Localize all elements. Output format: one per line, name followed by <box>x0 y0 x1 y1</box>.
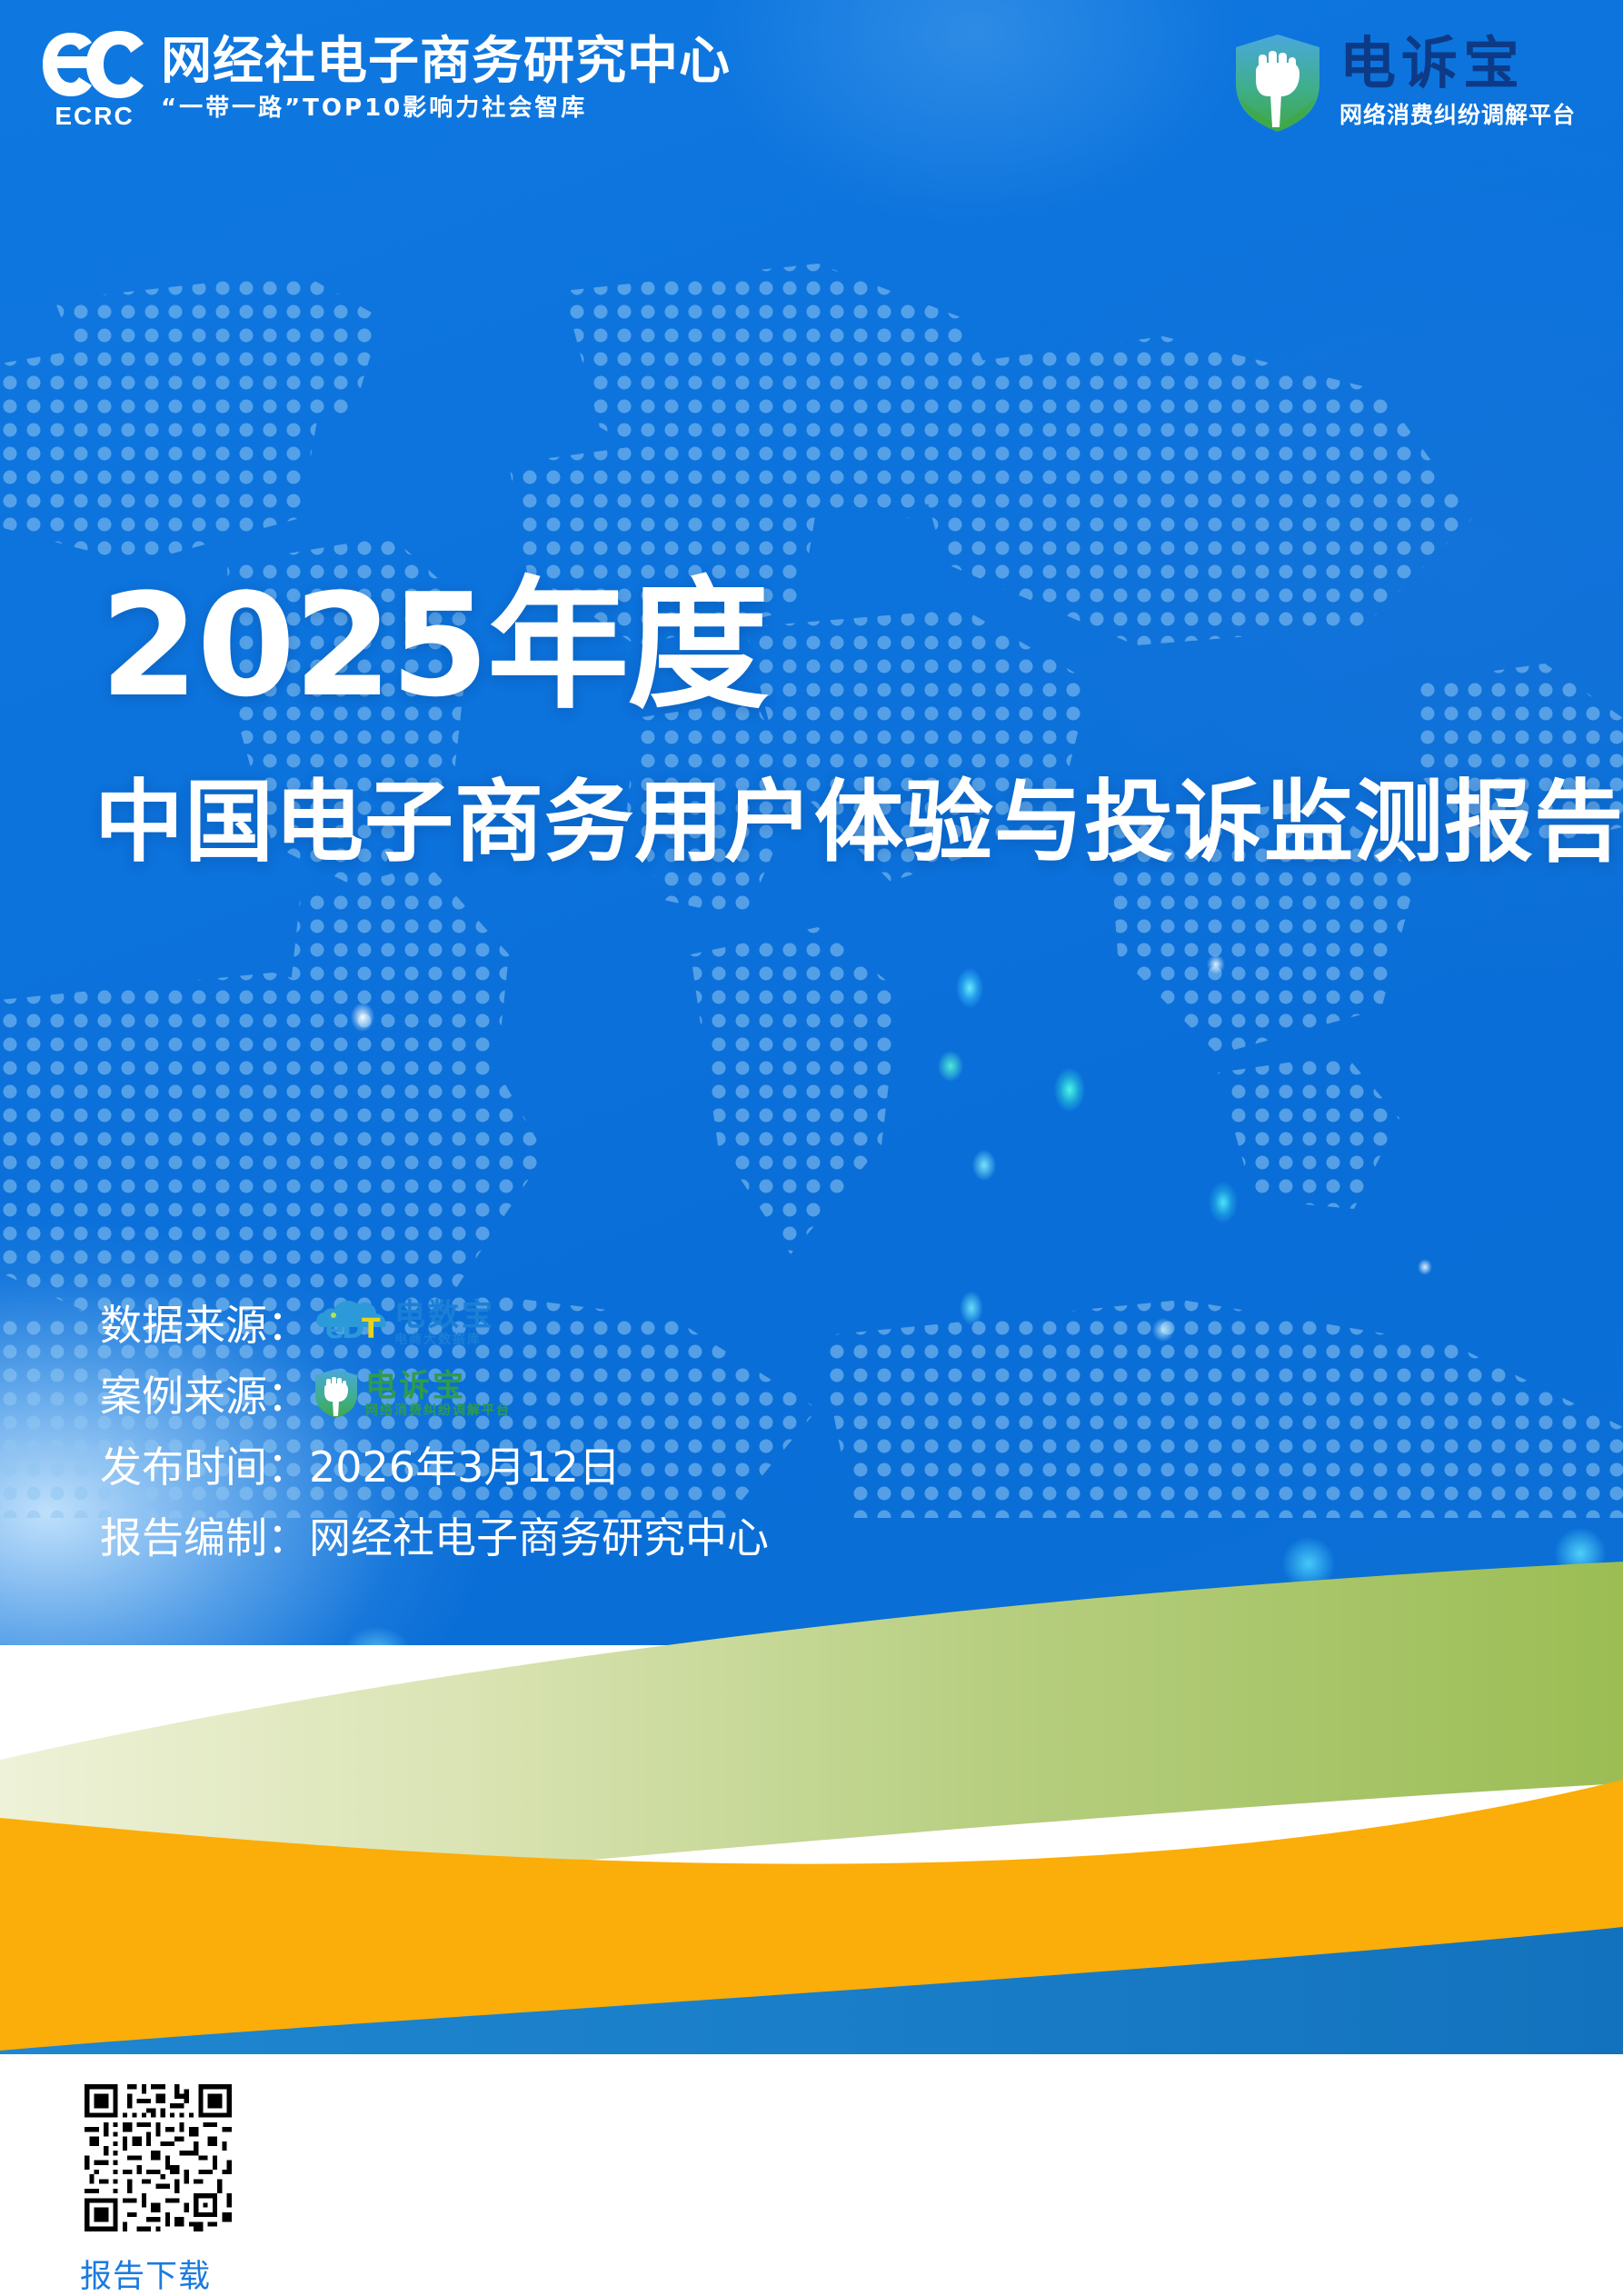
dsb-tagline-label: 网络消费纠纷调解平台 <box>1339 97 1576 130</box>
glow-speck <box>972 1150 996 1181</box>
meta-label-case-source: 案例来源： <box>100 1363 309 1423</box>
ec-glyph-icon <box>41 27 148 102</box>
svg-text:T: T <box>362 1313 381 1345</box>
glow-speck <box>351 1003 374 1032</box>
edb-cloud-icon: e D T <box>313 1296 389 1349</box>
dsb-sub-label-small: 网络消费纠纷调解平台 <box>365 1404 511 1417</box>
meta-row-publish-date: 发布时间： 2026年3月12日 <box>100 1431 769 1498</box>
meta-label-data-source: 数据来源： <box>100 1293 309 1353</box>
hero-background: ECRC 网经社电子商务研究中心 “一带一路”TOP10影响力社会智库 <box>0 0 1623 1645</box>
glow-speck <box>960 1291 983 1325</box>
dsb-mini-logo: 电诉宝 网络消费纠纷调解平台 <box>313 1367 511 1420</box>
ecrc-abbr-label: ECRC <box>41 102 148 131</box>
shield-fist-icon <box>1230 33 1325 133</box>
ecrc-mark-icon: ECRC <box>41 25 148 133</box>
report-main-title: 中国电子商务用户体验与投诉监测报告 <box>95 778 1623 867</box>
meta-row-case-source: 案例来源： <box>100 1360 769 1427</box>
shield-fist-icon <box>313 1367 360 1420</box>
report-download-block[interactable]: 报告下载 <box>80 2080 236 2296</box>
dsb-logo: 电诉宝 网络消费纠纷调解平台 <box>1230 33 1576 133</box>
report-year-title: 2025年度 <box>100 574 767 716</box>
report-download-label[interactable]: 报告下载 <box>80 2251 236 2296</box>
report-cover-poster: ECRC 网经社电子商务研究中心 “一带一路”TOP10影响力社会智库 <box>0 0 1623 2296</box>
meta-label-publish-date: 发布时间： <box>100 1434 309 1494</box>
ecrc-logo: ECRC 网经社电子商务研究中心 “一带一路”TOP10影响力社会智库 <box>41 25 731 133</box>
dsb-name-label: 电诉宝 <box>1339 35 1525 92</box>
glow-speck <box>1207 954 1225 974</box>
meta-value-publish-date: 2026年3月12日 <box>309 1434 621 1494</box>
decorative-wave-bands <box>0 1545 1623 2054</box>
qr-code-icon[interactable] <box>80 2080 236 2236</box>
glow-speck <box>938 1051 963 1082</box>
report-meta-block: 数据来源： e D T 电数宝 电商大数据库 案例来源： <box>100 1289 769 1569</box>
glow-speck <box>1054 1068 1085 1112</box>
glow-speck <box>956 968 983 1008</box>
dsb-name-label-small: 电诉宝 <box>365 1371 511 1402</box>
glow-speck <box>1209 1182 1238 1223</box>
edb-name-label: 电数宝 <box>394 1300 495 1331</box>
glow-speck <box>1418 1259 1432 1275</box>
glow-speck <box>1152 1318 1174 1342</box>
edb-mini-logo: e D T 电数宝 电商大数据库 <box>313 1296 495 1349</box>
meta-row-data-source: 数据来源： e D T 电数宝 电商大数据库 <box>100 1289 769 1356</box>
org-tagline-label: “一带一路”TOP10影响力社会智库 <box>161 89 731 123</box>
edb-sub-label: 电商大数据库 <box>394 1333 495 1346</box>
org-name-label: 网经社电子商务研究中心 <box>161 36 731 87</box>
